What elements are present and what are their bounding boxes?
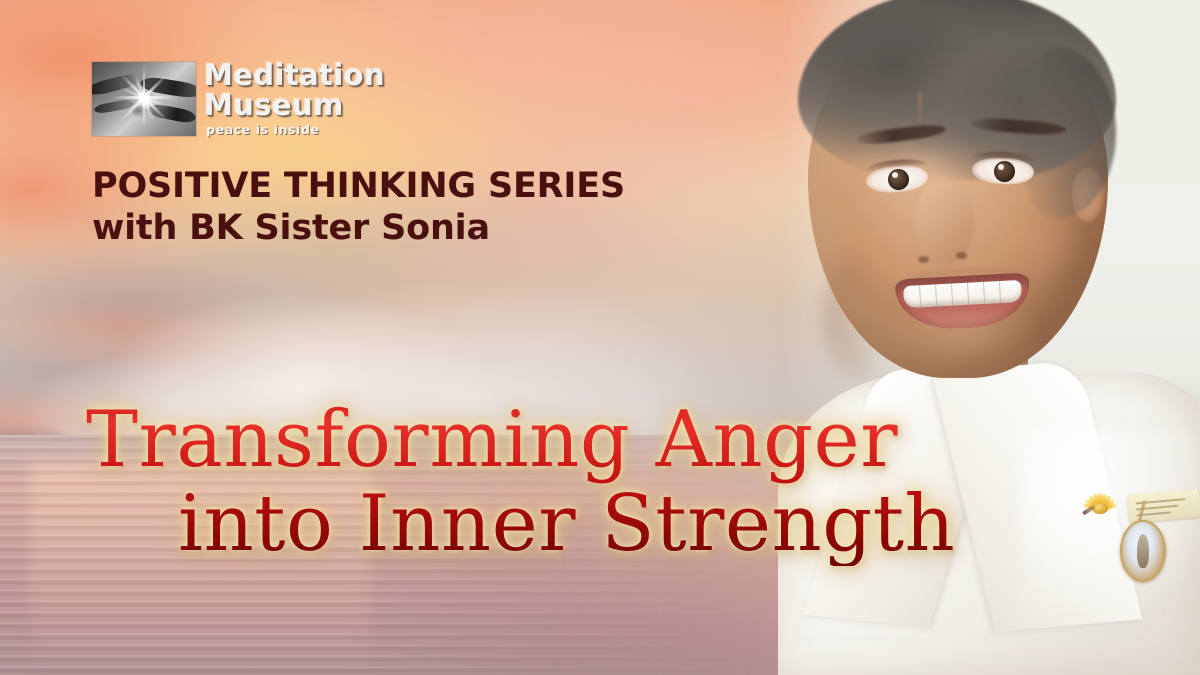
event-banner: Meditation Museum peace is inside POSITI… — [0, 0, 1200, 675]
series-title: POSITIVE THINKING SERIES — [92, 166, 732, 206]
medallion-pendant-icon — [1120, 520, 1166, 582]
series-presenter: with BK Sister Sonia — [92, 206, 732, 250]
iris-right — [994, 161, 1015, 182]
chin-highlight — [882, 312, 1042, 378]
nostril-right — [956, 252, 967, 259]
main-title-line-1: Transforming Anger — [86, 395, 898, 485]
teeth — [903, 280, 1022, 308]
logo-line-2: Museum — [204, 90, 454, 120]
closed-eye-star-icon — [92, 62, 196, 136]
iris-left — [888, 169, 909, 190]
forehead-mark — [918, 92, 922, 122]
main-title-line-2: into Inner Strength — [86, 482, 1086, 566]
main-title: Transforming Anger into Inner Strength — [86, 398, 1086, 566]
series-heading-block: POSITIVE THINKING SERIES with BK Sister … — [92, 166, 732, 250]
logo-tagline: peace is inside — [206, 122, 454, 137]
nostril-left — [918, 256, 929, 263]
logo-wordmark: Meditation Museum peace is inside — [204, 60, 454, 137]
logo-line-1: Meditation — [204, 60, 454, 90]
meditation-museum-logo[interactable]: Meditation Museum peace is inside — [92, 60, 422, 142]
